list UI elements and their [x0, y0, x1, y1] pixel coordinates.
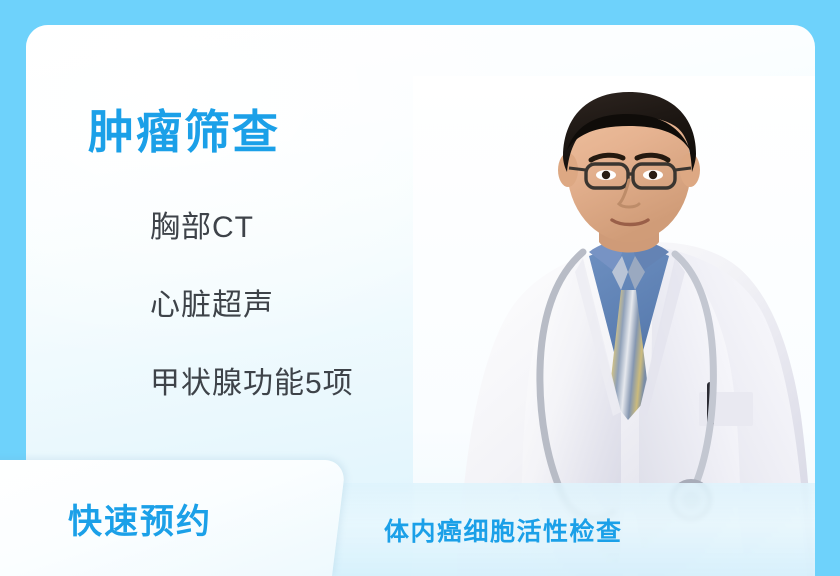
promo-banner: 肿瘤筛查 胸部CT 心脏超声 甲状腺功能5项 体内癌细胞活性检查 快速预约 — [0, 0, 840, 576]
service-item-list: 胸部CT 心脏超声 甲状腺功能5项 — [88, 202, 468, 402]
info-bar-label: 体内癌细胞活性检查 — [384, 512, 623, 548]
list-item: 甲状腺功能5项 — [88, 358, 468, 402]
text-block: 肿瘤筛查 胸部CT 心脏超声 甲状腺功能5项 — [88, 107, 468, 402]
list-item: 心脏超声 — [88, 280, 468, 324]
page-title: 肿瘤筛查 — [88, 107, 468, 158]
quick-booking-button-label[interactable]: 快速预约 — [68, 460, 368, 576]
list-item: 胸部CT — [88, 202, 468, 246]
